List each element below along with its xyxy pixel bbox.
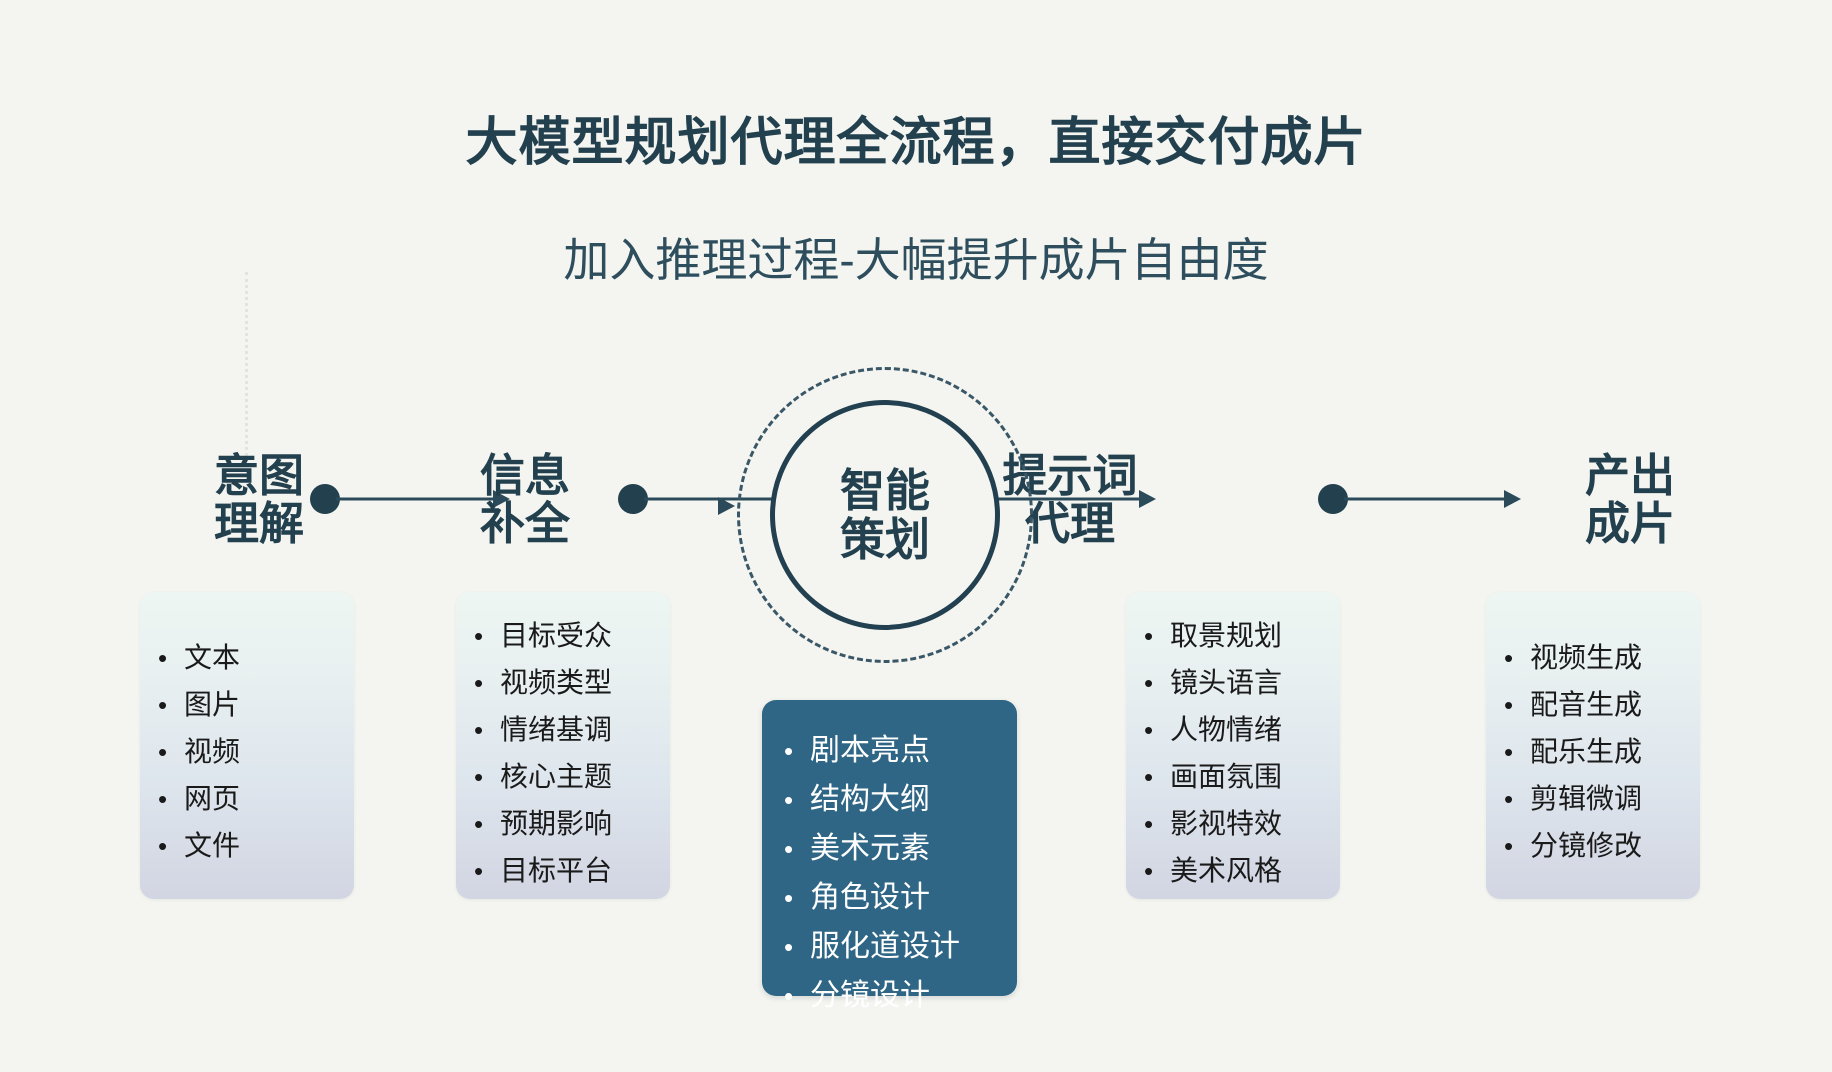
- list-item-label: 核心主题: [500, 763, 612, 791]
- list-item-label: 视频生成: [1530, 644, 1642, 672]
- flow-node-line2: 策划: [840, 515, 930, 565]
- bullet-icon: •: [784, 787, 810, 813]
- detail-card-intelligent-planning: •剧本亮点 •结构大纲 •美术元素 •角色设计 •服化道设计 •分镜设计: [762, 700, 1017, 996]
- detail-card-prompt-agent: •取景规划 •镜头语言 •人物情绪 •画面氛围 •影视特效 •美术风格: [1126, 592, 1340, 899]
- list-item-label: 配音生成: [1530, 691, 1642, 719]
- list-item-label: 分镜修改: [1530, 832, 1642, 860]
- bullet-icon: •: [1144, 670, 1170, 696]
- bullet-icon: •: [158, 645, 184, 671]
- bullet-icon: •: [784, 983, 810, 1009]
- flow-node-line2: 成片: [1450, 500, 1810, 548]
- list-item[interactable]: •视频: [158, 738, 354, 766]
- page-title: 大模型规划代理全流程，直接交付成片: [0, 100, 1832, 175]
- list-item[interactable]: •配音生成: [1504, 691, 1700, 719]
- bullet-icon: •: [474, 858, 500, 884]
- list-item[interactable]: •取景规划: [1144, 622, 1340, 650]
- detail-card-information-completion: •目标受众 •视频类型 •情绪基调 •核心主题 •预期影响 •目标平台: [456, 592, 670, 899]
- flow-node-line1: 产出: [1450, 452, 1810, 500]
- arrow-head-icon: [1139, 490, 1156, 508]
- list-item-label: 剧本亮点: [810, 736, 930, 766]
- bullet-icon: •: [1144, 764, 1170, 790]
- bullet-icon: •: [1144, 623, 1170, 649]
- list-item-label: 服化道设计: [810, 932, 960, 962]
- list-item-label: 镜头语言: [1170, 669, 1282, 697]
- bullet-icon: •: [474, 670, 500, 696]
- list-item[interactable]: •画面氛围: [1144, 763, 1340, 791]
- bullet-icon: •: [1144, 811, 1170, 837]
- bullet-icon: •: [1504, 786, 1530, 812]
- flow-node-line1: 智能: [840, 466, 930, 516]
- list-item[interactable]: •预期影响: [474, 810, 670, 838]
- flow-node-information-completion[interactable]: 信息 补全: [430, 452, 620, 547]
- list-item[interactable]: •网页: [158, 785, 354, 813]
- list-item-label: 人物情绪: [1170, 716, 1282, 744]
- list-item-label: 影视特效: [1170, 810, 1282, 838]
- bullet-icon: •: [158, 833, 184, 859]
- list-item[interactable]: •人物情绪: [1144, 716, 1340, 744]
- list-item[interactable]: •角色设计: [784, 883, 1017, 913]
- list-item[interactable]: •镜头语言: [1144, 669, 1340, 697]
- diagram-canvas: 大模型规划代理全流程，直接交付成片 加入推理过程-大幅提升成片自由度 意图 理解…: [0, 0, 1832, 1072]
- bullet-icon: •: [474, 717, 500, 743]
- list-item[interactable]: •服化道设计: [784, 932, 1017, 962]
- list-item-label: 图片: [184, 691, 240, 719]
- list-item[interactable]: •目标受众: [474, 622, 670, 650]
- bullet-icon: •: [1504, 739, 1530, 765]
- bullet-icon: •: [474, 764, 500, 790]
- list-item-label: 画面氛围: [1170, 763, 1282, 791]
- list-item[interactable]: •剧本亮点: [784, 736, 1017, 766]
- list-item[interactable]: •视频生成: [1504, 644, 1700, 672]
- list-item[interactable]: •视频类型: [474, 669, 670, 697]
- bullet-icon: •: [784, 836, 810, 862]
- arrow-head-into-circle-icon: [718, 497, 735, 515]
- detail-card-output-film: •视频生成 •配音生成 •配乐生成 •剪辑微调 •分镜修改: [1486, 592, 1700, 899]
- list-item-label: 文件: [184, 832, 240, 860]
- bullet-icon: •: [1144, 858, 1170, 884]
- bullet-icon: •: [158, 692, 184, 718]
- flow-node-intelligent-planning-label: 智能 策划: [770, 400, 1000, 630]
- list-item[interactable]: •核心主题: [474, 763, 670, 791]
- flow-node-line2: 补全: [430, 500, 620, 548]
- detail-list: •文本 •图片 •视频 •网页 •文件: [158, 644, 354, 860]
- list-item[interactable]: •配乐生成: [1504, 738, 1700, 766]
- list-item[interactable]: •目标平台: [474, 857, 670, 885]
- detail-list: •剧本亮点 •结构大纲 •美术元素 •角色设计 •服化道设计 •分镜设计: [784, 736, 1017, 1011]
- list-item-label: 视频: [184, 738, 240, 766]
- bullet-icon: •: [474, 811, 500, 837]
- bullet-icon: •: [784, 738, 810, 764]
- flow-node-line1: 信息: [430, 452, 620, 500]
- bullet-icon: •: [1504, 692, 1530, 718]
- bullet-icon: •: [1504, 645, 1530, 671]
- list-item-label: 网页: [184, 785, 240, 813]
- list-item-label: 取景规划: [1170, 622, 1282, 650]
- list-item-label: 美术风格: [1170, 857, 1282, 885]
- bullet-icon: •: [1504, 833, 1530, 859]
- bullet-icon: •: [1144, 717, 1170, 743]
- list-item[interactable]: •分镜修改: [1504, 832, 1700, 860]
- list-item[interactable]: •美术元素: [784, 834, 1017, 864]
- list-item-label: 剪辑微调: [1530, 785, 1642, 813]
- list-item-label: 视频类型: [500, 669, 612, 697]
- list-item[interactable]: •结构大纲: [784, 785, 1017, 815]
- list-item[interactable]: •分镜设计: [784, 981, 1017, 1011]
- list-item-label: 目标平台: [500, 857, 612, 885]
- detail-list: •目标受众 •视频类型 •情绪基调 •核心主题 •预期影响 •目标平台: [474, 622, 670, 885]
- list-item[interactable]: •图片: [158, 691, 354, 719]
- list-item-label: 文本: [184, 644, 240, 672]
- list-item[interactable]: •影视特效: [1144, 810, 1340, 838]
- flow-node-output-film[interactable]: 产出 成片: [1450, 452, 1810, 547]
- detail-card-intent-understanding: •文本 •图片 •视频 •网页 •文件: [140, 592, 354, 899]
- list-item-label: 分镜设计: [810, 981, 930, 1011]
- list-item-label: 结构大纲: [810, 785, 930, 815]
- list-item-label: 美术元素: [810, 834, 930, 864]
- dotted-guide-line: [245, 272, 248, 462]
- list-item-label: 角色设计: [810, 883, 930, 913]
- bullet-icon: •: [784, 934, 810, 960]
- list-item-label: 目标受众: [500, 622, 612, 650]
- list-item[interactable]: •剪辑微调: [1504, 785, 1700, 813]
- bullet-icon: •: [474, 623, 500, 649]
- list-item-label: 情绪基调: [500, 716, 612, 744]
- bullet-icon: •: [158, 739, 184, 765]
- list-item[interactable]: •情绪基调: [474, 716, 670, 744]
- list-item[interactable]: •文本: [158, 644, 354, 672]
- list-item[interactable]: •文件: [158, 832, 354, 860]
- page-subtitle: 加入推理过程-大幅提升成片自由度: [0, 224, 1832, 290]
- detail-list: •视频生成 •配音生成 •配乐生成 •剪辑微调 •分镜修改: [1504, 644, 1700, 860]
- list-item-label: 预期影响: [500, 810, 612, 838]
- list-item-label: 配乐生成: [1530, 738, 1642, 766]
- list-item[interactable]: •美术风格: [1144, 857, 1340, 885]
- bullet-icon: •: [784, 885, 810, 911]
- bullet-icon: •: [158, 786, 184, 812]
- detail-list: •取景规划 •镜头语言 •人物情绪 •画面氛围 •影视特效 •美术风格: [1144, 622, 1340, 885]
